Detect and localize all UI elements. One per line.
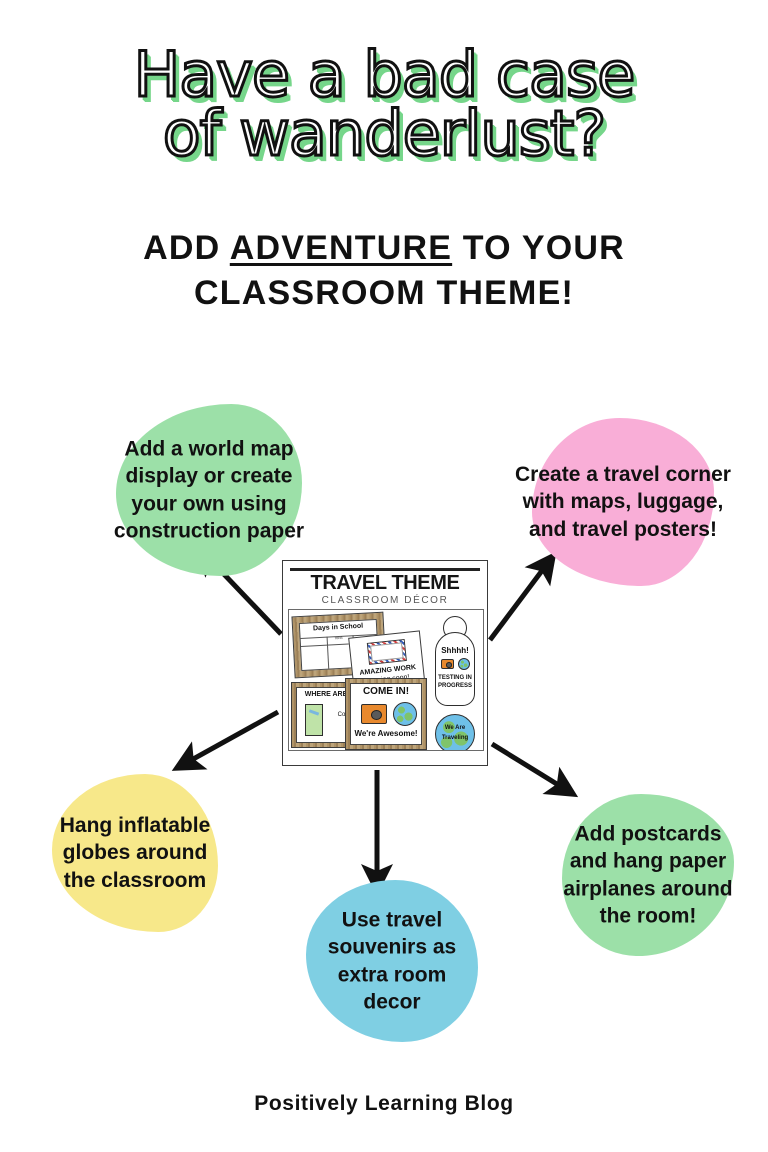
tip-postcards-airplanes-text: Add postcards and hang paper airplanes a… <box>541 820 755 929</box>
camera-icon <box>361 704 387 724</box>
poster-canvas: Have a bad case of wanderlust? ADD ADVEN… <box>0 0 768 1152</box>
product-card-subtitle: CLASSROOM DÉCOR <box>288 595 482 606</box>
arrow-to-inflatable-globes <box>177 712 278 768</box>
hanger-line-1: Shhhh! <box>436 647 474 655</box>
tip-travel-corner: Create a travel corner with maps, luggag… <box>532 418 714 586</box>
come-in-sub: We're Awesome! <box>351 730 421 738</box>
globe-badge-line-2: Traveling <box>436 735 474 741</box>
card-divider <box>290 568 480 571</box>
hanger-camera-icon <box>441 659 454 669</box>
product-card[interactable]: TRAVEL THEME CLASSROOM DÉCOR Days in Sch… <box>282 560 488 766</box>
hanger-line-2: TESTING IN <box>436 675 474 681</box>
footer-credit: Positively Learning Blog <box>0 1092 768 1116</box>
days-in-school-title: Days in School <box>300 622 376 633</box>
globe-badge: We Are Traveling <box>435 714 475 751</box>
door-hanger-body: Shhhh! TESTING IN PROGRESS <box>435 632 475 706</box>
tip-travel-corner-text: Create a travel corner with maps, luggag… <box>492 461 754 543</box>
map-icon <box>305 704 323 736</box>
globe-icon-come-in <box>393 702 417 726</box>
arrow-to-postcards <box>492 744 573 794</box>
tip-postcards-airplanes: Add postcards and hang paper airplanes a… <box>562 794 734 956</box>
product-card-title: TRAVEL THEME <box>288 573 482 594</box>
tip-world-map-text: Add a world map display or create your o… <box>76 435 342 544</box>
tip-inflatable-globes-text: Hang inflatable globes around the classr… <box>26 812 244 894</box>
hanger-globe-icon <box>458 658 470 670</box>
hanger-line-3: PROGRESS <box>436 683 474 689</box>
tip-travel-souvenirs: Use travel souvenirs as extra room decor <box>306 880 478 1042</box>
come-in-title: COME IN! <box>351 687 421 698</box>
door-hanger: Shhhh! TESTING IN PROGRESS <box>431 614 479 710</box>
envelope-icon <box>367 639 407 665</box>
tip-travel-souvenirs-text: Use travel souvenirs as extra room decor <box>312 906 472 1015</box>
poster-come-in: COME IN! We're Awesome! <box>345 678 427 750</box>
product-collage: Days in School NUMBER TENS ONES AMAZING … <box>288 609 484 751</box>
globe-badge-line-1: We Are <box>436 725 474 731</box>
tip-inflatable-globes: Hang inflatable globes around the classr… <box>52 774 218 932</box>
tip-world-map: Add a world map display or create your o… <box>116 404 302 576</box>
